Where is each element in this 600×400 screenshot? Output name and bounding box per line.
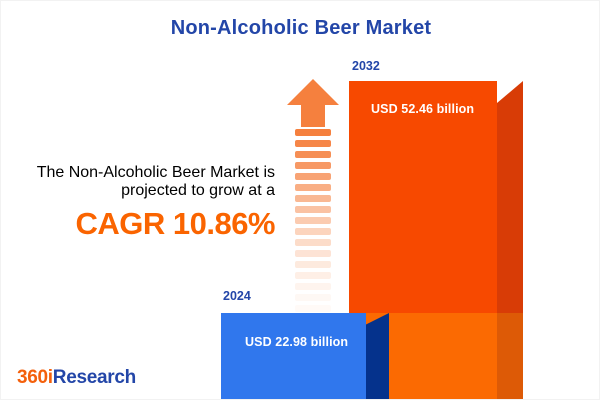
infographic-canvas: Non-Alcoholic Beer Market The Non-Alcoho… [0, 0, 600, 400]
statement-block: The Non-Alcoholic Beer Market is project… [23, 164, 275, 241]
bar-2032-side-lower-face [497, 313, 523, 400]
arrow-stripe [295, 283, 331, 290]
arrow-stripe [295, 261, 331, 268]
bar-2032-value-label: USD 52.46 billion [371, 102, 474, 116]
logo-word: Research [53, 367, 136, 388]
arrow-stripe [295, 294, 331, 301]
arrow-stripe [295, 228, 331, 235]
arrow-stripe [295, 250, 331, 257]
arrow-stripe [295, 305, 331, 312]
brand-logo: 360iResearch [17, 367, 136, 389]
arrow-stripe [295, 195, 331, 202]
arrow-stripe [295, 184, 331, 191]
arrow-stripe [295, 140, 331, 147]
bar-label-2032: 2032 [352, 59, 380, 73]
bar-label-2024: 2024 [223, 289, 251, 303]
arrow-stripes [295, 129, 331, 327]
page-title: Non-Alcoholic Beer Market [1, 17, 600, 40]
statement-line-1: The Non-Alcoholic Beer Market is [23, 164, 275, 182]
arrow-stripe [295, 129, 331, 136]
arrow-head-icon [287, 79, 339, 127]
bar-2024-value-label: USD 22.98 billion [245, 335, 348, 349]
arrow-stripe [295, 239, 331, 246]
arrow-stripe [295, 173, 331, 180]
bar-2024-front-face [221, 313, 366, 400]
growth-arrow-icon [287, 79, 339, 294]
arrow-stripe [295, 162, 331, 169]
bar-2024: USD 22.98 billion [221, 313, 389, 400]
logo-mark: 360i [17, 367, 53, 388]
arrow-stripe [295, 151, 331, 158]
cagr-value: CAGR 10.86% [23, 207, 275, 241]
arrow-stripe [295, 272, 331, 279]
statement-line-2: projected to grow at a [23, 182, 275, 200]
arrow-stripe [295, 206, 331, 213]
arrow-stripe [295, 217, 331, 224]
